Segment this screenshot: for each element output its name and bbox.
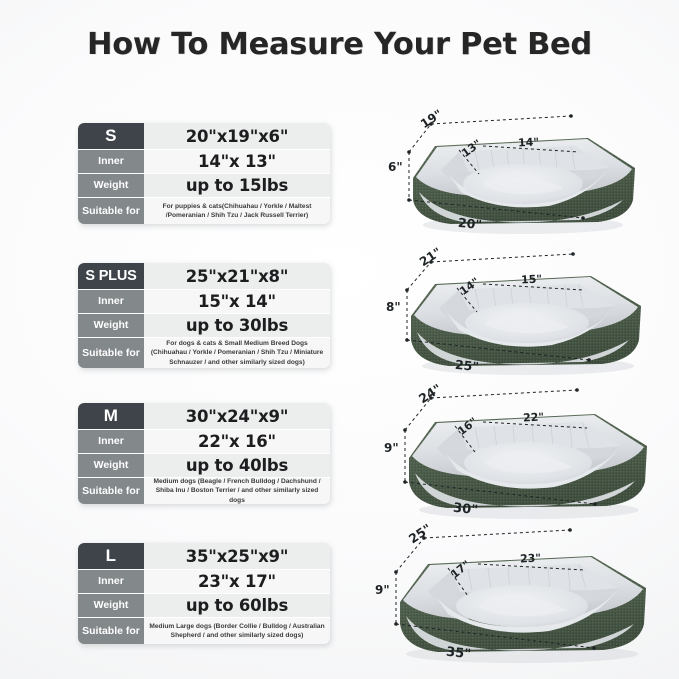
table-row: Weight up to 30lbs xyxy=(78,314,330,338)
dimension-height: 9" xyxy=(384,441,399,455)
table-row: Suitable for For puppies & cats(Chihuaha… xyxy=(78,198,330,224)
dimension-height: 8" xyxy=(386,300,401,314)
weight-value-cell: up to 30lbs xyxy=(144,314,330,338)
outer-dimensions-cell: 30"x24"x9" xyxy=(144,403,330,430)
spec-table-s: S 20"x19"x6" Inner 14"x 13" Weight up to… xyxy=(78,123,330,224)
table-row: Inner 22"x 16" xyxy=(78,430,330,454)
pet-bed-size-chart: How To Measure Your Pet Bed S 20"x19"x6"… xyxy=(0,0,679,679)
outer-dimensions-cell: 25"x21"x8" xyxy=(144,263,330,290)
size-name-cell: S PLUS xyxy=(78,263,144,290)
bed-illustration-m: 24" 9" 30" 16" 22" xyxy=(383,378,673,526)
outer-dimensions-cell: 35"x25"x9" xyxy=(144,543,330,570)
suitable-label-cell: Suitable for xyxy=(78,478,144,504)
table-row: S 20"x19"x6" xyxy=(78,123,330,150)
inner-label-cell: Inner xyxy=(78,290,144,314)
suitable-value-cell: Medium Large dogs (Border Collie / Bulld… xyxy=(144,618,330,644)
dimension-inner-width: 22" xyxy=(523,410,545,424)
dimension-inner-width: 14" xyxy=(518,135,540,149)
dimension-height: 6" xyxy=(388,160,403,174)
table-row: Weight up to 15lbs xyxy=(78,174,330,198)
inner-label-cell: Inner xyxy=(78,570,144,594)
spec-table-s-plus: S PLUS 25"x21"x8" Inner 15"x 14" Weight … xyxy=(78,263,330,368)
inner-dimensions-cell: 23"x 17" xyxy=(144,570,330,594)
suitable-label-cell: Suitable for xyxy=(78,618,144,644)
suitable-label-cell: Suitable for xyxy=(78,338,144,368)
table-row: S PLUS 25"x21"x8" xyxy=(78,263,330,290)
page-title: How To Measure Your Pet Bed xyxy=(0,27,679,62)
dimension-height: 9" xyxy=(375,583,390,597)
inner-label-cell: Inner xyxy=(78,430,144,454)
weight-label-cell: Weight xyxy=(78,594,144,618)
suitable-value-cell: For dogs & cats & Small Medium Breed Dog… xyxy=(144,338,330,368)
inner-dimensions-cell: 22"x 16" xyxy=(144,430,330,454)
spec-table-m: M 30"x24"x9" Inner 22"x 16" Weight up to… xyxy=(78,403,330,504)
table-row: Weight up to 40lbs xyxy=(78,454,330,478)
table-row: Inner 23"x 17" xyxy=(78,570,330,594)
table-row: Suitable for Medium Large dogs (Border C… xyxy=(78,618,330,644)
size-name-cell: S xyxy=(78,123,144,150)
table-row: M 30"x24"x9" xyxy=(78,403,330,430)
size-name-cell: L xyxy=(78,543,144,570)
dimension-width: 20" xyxy=(457,215,482,232)
weight-label-cell: Weight xyxy=(78,454,144,478)
table-row: L 35"x25"x9" xyxy=(78,543,330,570)
weight-value-cell: up to 60lbs xyxy=(144,594,330,618)
size-name-cell: M xyxy=(78,403,144,430)
table-row: Inner 15"x 14" xyxy=(78,290,330,314)
weight-label-cell: Weight xyxy=(78,314,144,338)
table-row: Weight up to 60lbs xyxy=(78,594,330,618)
dimension-width: 25" xyxy=(454,357,479,374)
outer-dimensions-cell: 20"x19"x6" xyxy=(144,123,330,150)
dimension-width: 30" xyxy=(452,501,478,519)
dimension-inner-width: 15" xyxy=(521,272,543,286)
weight-value-cell: up to 15lbs xyxy=(144,174,330,198)
suitable-value-cell: Medium dogs (Beagle / French Bulldog / D… xyxy=(144,478,330,504)
dimension-width: 35" xyxy=(445,645,471,663)
inner-label-cell: Inner xyxy=(78,150,144,174)
table-row: Suitable for For dogs & cats & Small Med… xyxy=(78,338,330,368)
weight-value-cell: up to 40lbs xyxy=(144,454,330,478)
inner-dimensions-cell: 15"x 14" xyxy=(144,290,330,314)
suitable-label-cell: Suitable for xyxy=(78,198,144,224)
bed-illustration-l: 25" 9" 35" 17" 23" xyxy=(370,520,670,672)
bed-illustration-s-plus: 21" 8" 25" 14" 15" xyxy=(383,240,673,380)
table-row: Inner 14"x 13" xyxy=(78,150,330,174)
suitable-value-cell: For puppies & cats(Chihuahau / Yorkle / … xyxy=(144,198,330,224)
bed-illustration-s: 19" 6" 20" 13" 14" xyxy=(383,100,673,240)
table-row: Suitable for Medium dogs (Beagle / Frenc… xyxy=(78,478,330,504)
weight-label-cell: Weight xyxy=(78,174,144,198)
inner-dimensions-cell: 14"x 13" xyxy=(144,150,330,174)
spec-table-l: L 35"x25"x9" Inner 23"x 17" Weight up to… xyxy=(78,543,330,644)
dimension-inner-width: 23" xyxy=(520,551,542,565)
